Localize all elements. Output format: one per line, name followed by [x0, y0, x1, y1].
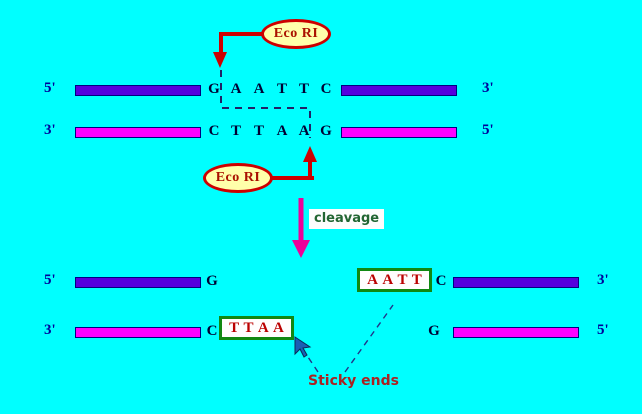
uncut-top-base-3: A [251, 81, 267, 98]
product-right-top-terminal-base: C [433, 273, 449, 290]
product-right-bottom-terminal-base: G [426, 323, 442, 340]
product-left-top-bar [75, 277, 201, 288]
uncut-top-base-6: C [318, 81, 334, 98]
product-left-bottom-end-label: 3' [44, 322, 56, 339]
product-left-top-end-label: 5' [44, 272, 56, 289]
figure-canvas: Eco RI 5' G A A T T C 3' 3' C T T A A G … [0, 0, 642, 414]
sticky-end-box-ttaa[interactable]: T T A A [219, 316, 294, 340]
sticky-aatt-base-3: T [397, 272, 407, 289]
product-left-bottom-bar [75, 327, 201, 338]
sticky-leader-left [300, 345, 318, 372]
uncut-top-base-5: T [296, 81, 312, 98]
uncut-top-left-bar [75, 85, 201, 96]
sticky-aatt-base-1: A [367, 272, 378, 289]
uncut-bottom-left-bar [75, 127, 201, 138]
uncut-top-base-4: T [274, 81, 290, 98]
product-right-top-end-label: 3' [597, 272, 609, 289]
sticky-end-box-aatt[interactable]: A A T T [357, 268, 432, 292]
cleavage-arrow-head [292, 240, 310, 258]
uncut-bottom-left-end-label: 3' [44, 122, 56, 139]
uncut-bottom-base-6: G [318, 123, 334, 140]
product-left-top-terminal-base: G [204, 273, 220, 290]
enzyme-top-connector-horizontal [222, 32, 264, 36]
mouse-cursor [295, 337, 310, 357]
product-left-bottom-terminal-base: C [204, 323, 220, 340]
uncut-top-base-1: G [206, 81, 222, 98]
enzyme-label-ecori-top[interactable]: Eco RI [261, 19, 331, 49]
product-right-top-bar [453, 277, 579, 288]
sticky-ttaa-base-2: T [243, 320, 253, 337]
product-right-bottom-bar [453, 327, 579, 338]
sticky-aatt-base-4: T [412, 272, 422, 289]
uncut-bottom-right-end-label: 5' [482, 122, 494, 139]
uncut-top-right-end-label: 3' [482, 80, 494, 97]
enzyme-top-connector-vertical [219, 32, 223, 54]
uncut-bottom-base-1: C [206, 123, 222, 140]
uncut-bottom-base-2: T [228, 123, 244, 140]
sticky-ttaa-base-3: A [258, 320, 269, 337]
uncut-top-base-2: A [228, 81, 244, 98]
uncut-top-right-bar [341, 85, 457, 96]
product-right-bottom-end-label: 5' [597, 322, 609, 339]
uncut-bottom-base-3: T [251, 123, 267, 140]
enzyme-label-ecori-bottom[interactable]: Eco RI [203, 163, 273, 193]
arrow-overlay [0, 0, 642, 414]
uncut-bottom-right-bar [341, 127, 457, 138]
uncut-bottom-base-5: A [296, 123, 312, 140]
sticky-aatt-base-2: A [382, 272, 393, 289]
uncut-bottom-base-4: A [274, 123, 290, 140]
cut-arrow-top-head [213, 52, 227, 68]
uncut-top-left-end-label: 5' [44, 80, 56, 97]
sticky-leader-right [345, 305, 393, 372]
sticky-ends-caption: Sticky ends [308, 373, 399, 389]
enzyme-bottom-connector-vertical [308, 157, 312, 180]
cleavage-label: cleavage [309, 209, 384, 229]
sticky-ttaa-base-4: A [273, 320, 284, 337]
sticky-ttaa-base-1: T [229, 320, 239, 337]
